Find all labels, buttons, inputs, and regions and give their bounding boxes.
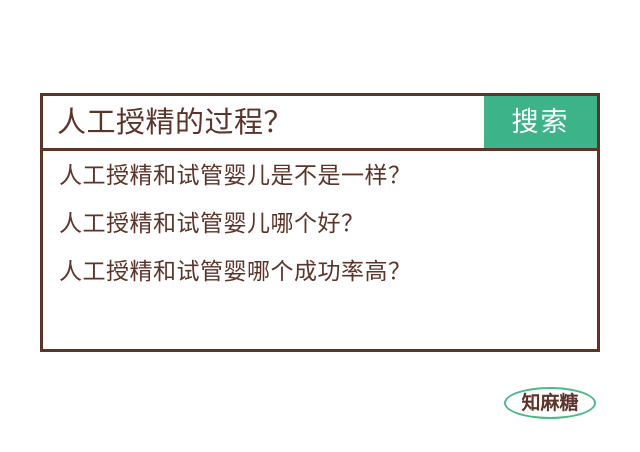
- brand-logo-label: 知麻糖: [504, 387, 596, 419]
- list-item[interactable]: 人工授精和试管婴哪个成功率高？: [59, 261, 597, 309]
- search-bar: 人工授精的过程？ 搜索: [43, 96, 597, 151]
- list-item[interactable]: 人工授精和试管婴儿是不是一样？: [59, 165, 597, 213]
- brand-logo: 知麻糖: [504, 387, 596, 419]
- list-item[interactable]: 人工授精和试管婴儿哪个好？: [59, 213, 597, 261]
- search-widget: 人工授精的过程？ 搜索 人工授精和试管婴儿是不是一样？ 人工授精和试管婴儿哪个好…: [40, 93, 600, 352]
- search-input[interactable]: 人工授精的过程？: [43, 96, 484, 148]
- search-suggestion-list: 人工授精和试管婴儿是不是一样？ 人工授精和试管婴儿哪个好？ 人工授精和试管婴哪个…: [43, 151, 597, 349]
- search-button[interactable]: 搜索: [484, 96, 597, 148]
